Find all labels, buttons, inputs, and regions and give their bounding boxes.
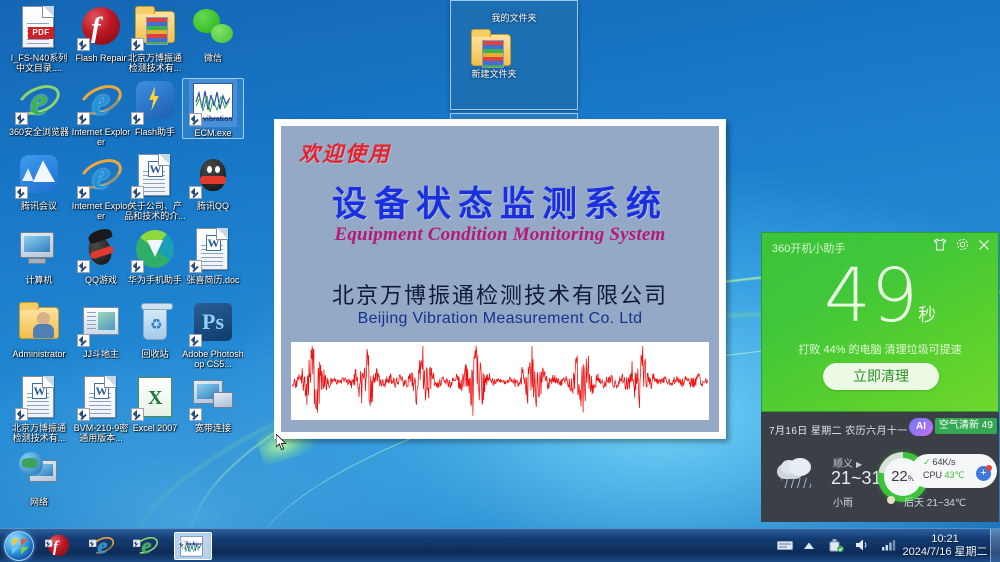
flash-icon: f — [45, 533, 63, 548]
desktop-icon-label: Excel 2007 — [124, 423, 186, 433]
ie-blue-icon: e — [77, 78, 125, 126]
desktop-icon-about-company-doc[interactable]: W关于公司、产品和技术的介... — [124, 152, 186, 221]
desktop-icon-photoshop[interactable]: PsAdobe Photoshop CS5... — [182, 300, 244, 369]
desktop-icon-label: 华为手机助手 — [124, 275, 186, 285]
air-quality-badge: 空气清新 49 — [935, 418, 997, 434]
ecm-splash-content: 欢迎使用 设备状态监测系统 Equipment Condition Monito… — [281, 126, 719, 432]
check-icon: ✓ — [923, 457, 931, 467]
desktop-icon-qq-game[interactable]: QQ游戏 — [70, 226, 132, 285]
vibration-waveform-panel — [291, 342, 709, 420]
desktop-icon-huawei-assistant[interactable]: 华为手机助手 — [124, 226, 186, 285]
word-icon: W — [15, 374, 63, 422]
taskbar-flash[interactable]: f — [42, 532, 80, 560]
add-widget-button[interactable]: + — [976, 466, 991, 481]
ecm-icon: vibration — [178, 534, 196, 549]
clock-date: 2024/7/16 星期二 — [902, 546, 988, 559]
network-icon — [15, 448, 63, 496]
desktop-icon-label: 360安全浏览器 — [8, 127, 70, 137]
company-name-chinese: 北京万博振通检测技术有限公司 — [281, 278, 719, 310]
desktop-icon-label: 微信 — [182, 53, 244, 63]
desktop-icon-wechat[interactable]: 微信 — [182, 4, 244, 63]
desktop-icon-label: ECM.exe — [183, 128, 243, 138]
network-signal-icon[interactable] — [881, 538, 897, 554]
word-icon: W — [189, 226, 237, 274]
taskbar[interactable]: feevibration 10:21 2024/7/16 星期二 — [0, 528, 1000, 562]
desktop-icon-administrator[interactable]: Administrator — [8, 300, 70, 359]
weather-temp-range: 21~31 — [831, 468, 882, 489]
bolt-icon — [131, 78, 179, 126]
desktop-icon-resume-doc[interactable]: W张喜简历.doc — [182, 226, 244, 285]
app-title-chinese: 设备状态监测系统 — [281, 176, 719, 227]
taskbar-clock[interactable]: 10:21 2024/7/16 星期二 — [902, 533, 988, 559]
system-tray: 10:21 2024/7/16 星期二 — [772, 529, 1000, 562]
safely-remove-hardware-icon[interactable] — [829, 538, 845, 554]
taskbar-ecm[interactable]: vibration — [174, 532, 212, 560]
taskbar-360-browser[interactable]: e — [130, 532, 168, 560]
company-name-english: Beijing Vibration Measurement Co. Ltd — [281, 310, 719, 328]
desktop-icon-recycle-bin[interactable]: 回收站 — [124, 300, 186, 359]
jj-icon — [77, 300, 125, 348]
desktop-icon-excel-2007[interactable]: Excel 2007 — [124, 374, 186, 433]
recycle-icon — [131, 300, 179, 348]
weather-system-widget[interactable]: 7月16日 星期二 农历六月十一 AI 空气清新 49 顺义▶ 21~31 小雨… — [761, 412, 999, 522]
desktop[interactable]: PDFI_FS-N40系列中文目录....fFlash Repair北京万博振通… — [0, 0, 1000, 562]
desktop-icon-computer[interactable]: 计算机 — [8, 226, 70, 285]
desktop-icon-label: Internet Explorer — [70, 201, 132, 221]
desktop-icon-label: QQ游戏 — [70, 275, 132, 285]
desktop-icon-broadband-connection[interactable]: 宽带连接 — [182, 374, 244, 433]
widget-360-subtitle: 打败 44% 的电脑 清理垃圾可提速 — [762, 341, 998, 357]
skin-icon[interactable] — [933, 238, 947, 255]
desktop-icon-jj-doudizhu[interactable]: JJ斗地主 — [70, 300, 132, 359]
ai-badge[interactable]: AI — [909, 418, 933, 436]
wechat-icon — [189, 4, 237, 52]
weather-condition: 小雨 — [833, 494, 853, 509]
show-hidden-icons-arrow-icon[interactable] — [803, 538, 819, 554]
computer-icon — [15, 226, 63, 274]
widget-360-controls — [933, 238, 990, 255]
folder-panel[interactable]: 我的文件夹 新建文件夹 — [450, 0, 578, 110]
360-boot-assistant-widget[interactable]: 360开机小助手 49秒 打败 44% 的电脑 清理垃圾可提速 — [761, 232, 999, 412]
desktop-icon-company-doc[interactable]: W北京万博振通检测技术有... — [8, 374, 70, 443]
welcome-text: 欢迎使用 — [299, 138, 391, 168]
app-title-english: Equipment Condition Monitoring System — [281, 224, 719, 246]
volume-icon[interactable] — [855, 538, 871, 554]
broadband-icon — [189, 374, 237, 422]
flash-icon: f — [77, 4, 125, 52]
desktop-icon-label: Internet Explorer — [70, 127, 132, 147]
qqgame-icon — [77, 226, 125, 274]
desktop-icon-pdf-catalog[interactable]: PDFI_FS-N40系列中文目录.... — [8, 4, 70, 73]
taskbar-ie[interactable]: e — [86, 532, 124, 560]
keyboard-icon[interactable] — [777, 538, 793, 554]
system-stats-pill[interactable]: ✓64K/s CPU 43℃ + — [911, 454, 997, 488]
desktop-icon-tencent-qq[interactable]: 腾讯QQ — [182, 152, 244, 211]
word-icon: W — [131, 152, 179, 200]
desktop-icon-label: 关于公司、产品和技术的介... — [124, 201, 186, 221]
gear-icon[interactable] — [956, 238, 969, 255]
clock-time: 10:21 — [902, 533, 988, 546]
pdf-icon: PDF — [15, 4, 63, 52]
meeting-icon — [15, 152, 63, 200]
clean-now-button[interactable]: 立即清理 — [823, 363, 939, 390]
desktop-icon-label: 腾讯QQ — [182, 201, 244, 211]
userfolder-icon — [15, 300, 63, 348]
windows-logo-icon — [12, 539, 28, 554]
desktop-icon-label: 回收站 — [124, 349, 186, 359]
close-icon[interactable] — [978, 239, 990, 255]
qq-icon — [189, 152, 237, 200]
desktop-icon-label: 腾讯会议 — [8, 201, 70, 211]
desktop-icon-label: 宽带连接 — [182, 423, 244, 433]
desktop-icon-flash-repair[interactable]: fFlash Repair — [70, 4, 132, 63]
desktop-icon-label: Flash Repair — [70, 53, 132, 63]
desktop-icon-label: 计算机 — [8, 275, 70, 285]
desktop-icon-label: Flash助手 — [124, 127, 186, 137]
ecm-splash-window[interactable]: 欢迎使用 设备状态监测系统 Equipment Condition Monito… — [274, 119, 726, 439]
desktop-icon-label: 网络 — [8, 497, 70, 507]
ie-green-icon: e — [15, 78, 63, 126]
ie-blue-icon: e — [89, 533, 107, 548]
folder-panel-item-label: 新建文件夹 — [459, 67, 529, 80]
ie-blue-icon: e — [77, 152, 125, 200]
ecm-icon: vibration — [189, 79, 237, 127]
excel-icon — [131, 374, 179, 422]
rain-cloud-icon — [775, 456, 819, 486]
sun-icon — [883, 492, 899, 508]
weather-day-after: 后天 21~34℃ — [904, 494, 966, 509]
desktop-icon-internet-explorer-2[interactable]: eInternet Explorer — [70, 152, 132, 221]
desktop-icon-tencent-meeting[interactable]: 腾讯会议 — [8, 152, 70, 211]
folder-panel-title: 我的文件夹 — [451, 11, 577, 24]
desktop-icon-label: JJ斗地主 — [70, 349, 132, 359]
ps-icon: Ps — [189, 300, 237, 348]
folder-icon[interactable] — [467, 27, 507, 63]
waveform-svg — [292, 343, 708, 419]
show-desktop-button[interactable] — [990, 529, 1000, 562]
desktop-icon-label: Administrator — [8, 349, 70, 359]
desktop-icon-flash-helper[interactable]: Flash助手 — [124, 78, 186, 137]
desktop-icon-label: I_FS-N40系列中文目录.... — [8, 53, 70, 73]
desktop-icon-label: BVM-210-9密通用版本... — [70, 423, 132, 443]
desktop-icon-360-browser[interactable]: e360安全浏览器 — [8, 78, 70, 137]
desktop-icon-label: 北京万博振通检测技术有... — [124, 53, 186, 73]
desktop-icon-label: Adobe Photoshop CS5... — [182, 349, 244, 369]
desktop-icon-ecm-exe[interactable]: vibrationECM.exe — [182, 78, 244, 139]
desktop-icon-internet-explorer[interactable]: eInternet Explorer — [70, 78, 132, 147]
desktop-icon-label: 北京万博振通检测技术有... — [8, 423, 70, 443]
folder-color-icon — [131, 4, 179, 52]
start-button[interactable] — [4, 531, 34, 561]
ie-green-icon: e — [133, 533, 151, 548]
huawei-icon — [131, 226, 179, 274]
weather-date: 7月16日 星期二 农历六月十一 — [769, 422, 908, 437]
desktop-icon-label: 张喜简历.doc — [182, 275, 244, 285]
desktop-icon-bvm-doc[interactable]: WBVM-210-9密通用版本... — [70, 374, 132, 443]
word-icon: W — [77, 374, 125, 422]
boot-seconds-unit: 秒 — [918, 305, 936, 326]
desktop-icon-company-folder[interactable]: 北京万博振通检测技术有... — [124, 4, 186, 73]
desktop-icon-network[interactable]: 网络 — [8, 448, 70, 507]
